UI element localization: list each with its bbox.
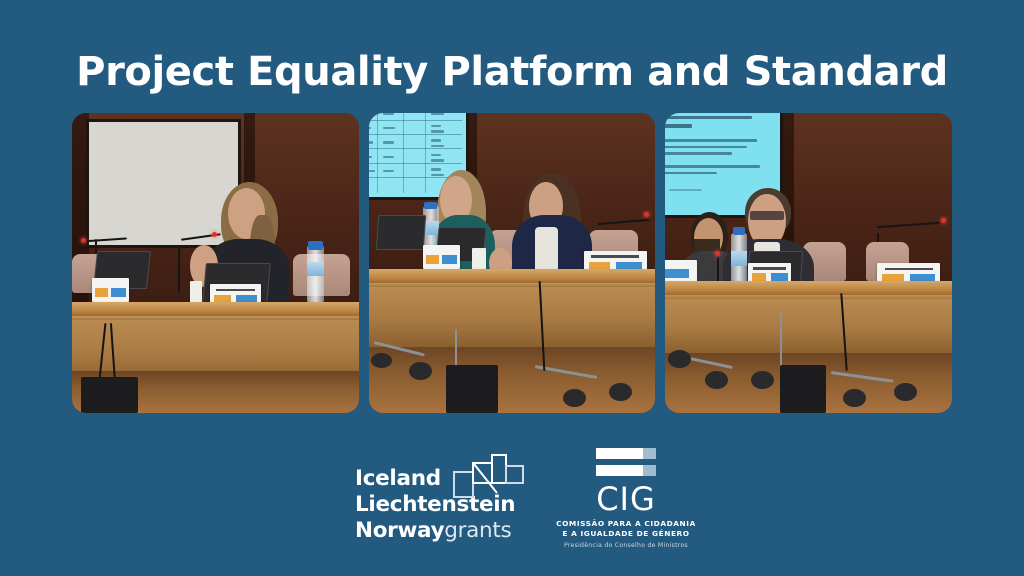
floor-speaker <box>81 377 138 413</box>
placard-name-text <box>885 268 933 271</box>
slide-heading-line <box>665 124 691 127</box>
slide-cell-value <box>431 174 444 176</box>
norway-grants-logo: Iceland Liechtenstein Norwaygrants <box>355 454 530 550</box>
logo-row: Iceland Liechtenstein Norwaygrants <box>0 440 1024 560</box>
cig-acronym: CIG <box>556 482 696 516</box>
bottle-cap <box>733 227 746 235</box>
slide-cell-value <box>369 127 372 129</box>
cig-equals-bars-icon <box>596 448 656 478</box>
chair-wheel <box>751 371 774 389</box>
slide-heading-line <box>665 116 752 119</box>
placard-logo-orange <box>426 255 439 264</box>
bottle-label <box>731 251 747 266</box>
slide-cell-value <box>431 154 441 156</box>
slide-cell-value <box>431 159 444 161</box>
slide-body-line <box>665 165 759 168</box>
cig-bar-tail <box>643 448 656 459</box>
placard-name-text <box>216 289 255 292</box>
slide-cell-value <box>369 170 375 172</box>
placard-name-text <box>753 267 786 270</box>
photo-strip <box>72 113 952 413</box>
slide-cell-value <box>431 139 441 141</box>
slide-cell-value <box>369 156 373 158</box>
placard-logo-blue <box>665 269 689 278</box>
microphone-stem-center <box>178 245 180 293</box>
slide-cell-value <box>431 125 441 127</box>
grants-norway-text: Norway <box>355 518 444 543</box>
slide-cell-value <box>431 145 444 147</box>
microphone-light-left <box>81 238 86 243</box>
slide-column-line <box>377 113 378 193</box>
floor-speaker <box>446 365 498 413</box>
slide-rule <box>669 189 702 191</box>
cig-bar-tail <box>643 465 656 476</box>
photo-2-two-women <box>369 113 656 413</box>
chair-wheel <box>668 350 691 368</box>
slide-column-line <box>425 113 426 193</box>
cig-subtitle-line-3: Presidência do Conselho de Ministros <box>556 541 696 551</box>
slide-body-line <box>665 139 757 142</box>
chair-wheel <box>371 353 391 368</box>
name-placard-left <box>92 278 129 302</box>
slide-cell-value <box>383 170 394 172</box>
cig-bar-top <box>596 448 656 459</box>
slide-canvas: Project Equality Platform and Standard <box>0 0 1024 576</box>
page-title: Project Equality Platform and Standard <box>0 48 1024 96</box>
slide-body-line <box>665 146 747 149</box>
slide-cell-value <box>431 130 444 132</box>
floor <box>369 347 656 413</box>
cig-subtitle-line-2: E A IGUALDADE DE GÉNERO <box>556 529 696 539</box>
slide-column-line <box>403 113 404 193</box>
slide-cell-value <box>369 113 373 115</box>
slide-body-line <box>665 172 717 175</box>
slide-cell-value <box>369 141 374 143</box>
cig-bar-bottom <box>596 465 656 476</box>
slide-cell-value <box>383 156 394 158</box>
photo-1-single-speaker <box>72 113 359 413</box>
laptop-far-left <box>376 215 426 250</box>
photo-3-two-men <box>665 113 952 413</box>
slide-cell-value <box>431 168 441 170</box>
name-placard-far-left <box>665 260 697 283</box>
chair-wheel <box>843 389 866 407</box>
slide-row-line <box>369 120 462 121</box>
chair-wheel <box>409 362 432 380</box>
cig-subtitle-line-1: COMISSÃO PARA A CIDADANIA <box>556 519 696 529</box>
name-placard-left <box>423 245 460 269</box>
slide-cell-value <box>383 141 394 143</box>
water-bottle <box>307 245 324 305</box>
bottle-cap <box>424 202 437 210</box>
person-b-glasses <box>750 211 784 220</box>
placard-name-text <box>591 255 639 258</box>
slide-cell-value <box>383 113 394 115</box>
bottle-cap <box>308 241 322 250</box>
slide-body-line <box>665 152 732 155</box>
grants-grants-text: grants <box>444 518 511 543</box>
bottle-label <box>307 262 324 276</box>
grants-line-norway: Norwaygrants <box>355 518 515 544</box>
floor-speaker <box>780 365 826 413</box>
placard-logo-blue <box>442 255 457 264</box>
placard-logo-blue <box>111 288 126 297</box>
slide-row-line <box>369 148 462 149</box>
slide-row-line <box>369 134 462 135</box>
slide-cell-value <box>431 113 444 115</box>
projection-screen <box>89 122 238 245</box>
placard-logo-orange <box>95 288 108 297</box>
slide-cell-value <box>383 127 395 129</box>
cig-logo: CIG COMISSÃO PARA A CIDADANIA E A IGUALD… <box>556 448 696 556</box>
slide-row-line <box>369 163 462 164</box>
norway-grants-mark-icon <box>453 454 525 498</box>
